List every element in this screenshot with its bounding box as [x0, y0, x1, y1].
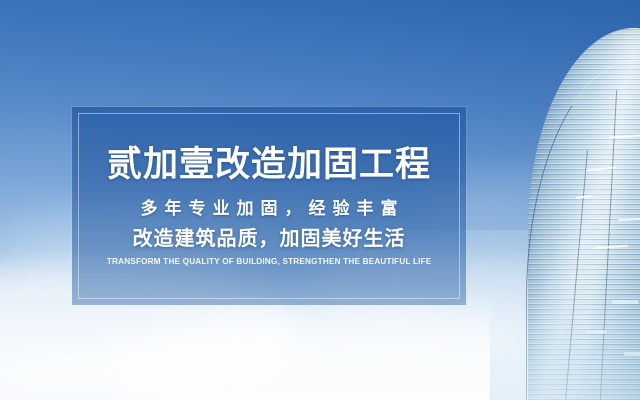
- text-overlay-panel: 贰加壹改造加固工程 多年专业加固，经验丰富 改造建筑品质，加固美好生活 TRAN…: [72, 107, 466, 305]
- panel-content: 贰加壹改造加固工程 多年专业加固，经验丰富 改造建筑品质，加固美好生活 TRAN…: [72, 107, 466, 305]
- tower-base-haze: [490, 280, 640, 400]
- banner-english-line: TRANSFORM THE QUALITY OF BUILDING, STREN…: [107, 258, 432, 266]
- skyscraper-region: [490, 0, 640, 400]
- hero-banner: 贰加壹改造加固工程 多年专业加固，经验丰富 改造建筑品质，加固美好生活 TRAN…: [0, 0, 640, 400]
- banner-tagline: 改造建筑品质，加固美好生活: [133, 229, 406, 249]
- banner-headline: 贰加壹改造加固工程: [107, 147, 431, 182]
- banner-subline: 多年专业加固，经验丰富: [134, 200, 405, 217]
